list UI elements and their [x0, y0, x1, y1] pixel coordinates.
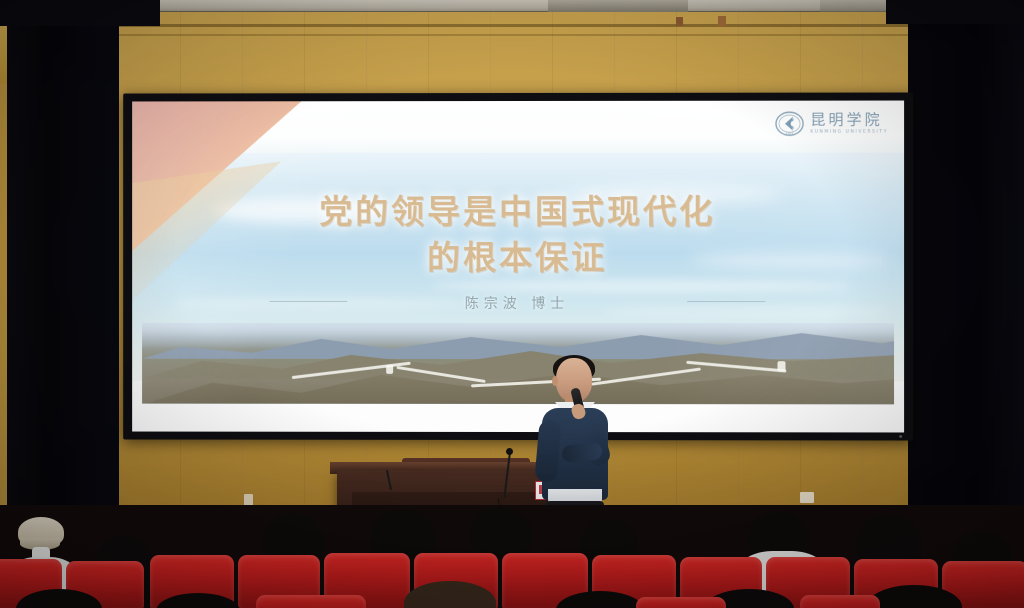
- presentation-slide: 1903 昆明学院 KUNMING UNIVERSITY 党的领导是中国式现代化…: [132, 101, 904, 433]
- sky-streak-1: [431, 281, 852, 291]
- great-wall-tower-1: [386, 365, 393, 374]
- kunming-university-emblem-icon: 1903: [774, 109, 804, 139]
- slide-title-line-2: 的根本保证: [132, 235, 904, 281]
- gooseneck-microphone-head: [506, 448, 513, 455]
- slide-title: 党的领导是中国式现代化 的根本保证: [132, 189, 904, 281]
- wall-trim-upper: [118, 24, 908, 27]
- auditorium-scene: 1903 昆明学院 KUNMING UNIVERSITY 党的领导是中国式现代化…: [0, 0, 1024, 608]
- slide-title-line-1: 党的领导是中国式现代化: [132, 189, 904, 235]
- projection-screen-frame: 1903 昆明学院 KUNMING UNIVERSITY 党的领导是中国式现代化…: [123, 92, 913, 440]
- stage-curtain-left: [7, 14, 119, 544]
- seat: [636, 597, 726, 608]
- university-logo: 1903 昆明学院 KUNMING UNIVERSITY: [774, 109, 888, 139]
- audience-area: [0, 505, 1024, 608]
- wall-outlet-right: [800, 492, 814, 503]
- university-name-cn: 昆明学院: [810, 112, 888, 127]
- wall-peg-2: [676, 17, 683, 26]
- presenter-ear: [552, 376, 558, 386]
- svg-text:1903: 1903: [785, 131, 793, 135]
- wall-peg-1: [718, 16, 726, 26]
- curtain-valance-left: [0, 0, 160, 26]
- university-logo-text: 昆明学院 KUNMING UNIVERSITY: [810, 112, 888, 135]
- slide-footer-band: [132, 404, 904, 433]
- projection-screen: 1903 昆明学院 KUNMING UNIVERSITY 党的领导是中国式现代化…: [132, 101, 904, 433]
- seat: [256, 595, 366, 608]
- great-wall-tower-3: [777, 361, 785, 371]
- stage-curtain-right: [908, 8, 1024, 548]
- university-name-en: KUNMING UNIVERSITY: [810, 130, 888, 134]
- seat: [800, 595, 880, 608]
- screen-brand-tag: ●: [899, 433, 903, 438]
- curtain-valance-right: [886, 0, 1024, 24]
- wall-trim-lower: [118, 34, 908, 36]
- slide-subtitle: 陈宗波 博士: [132, 293, 904, 313]
- great-wall-photo-band: [142, 323, 894, 406]
